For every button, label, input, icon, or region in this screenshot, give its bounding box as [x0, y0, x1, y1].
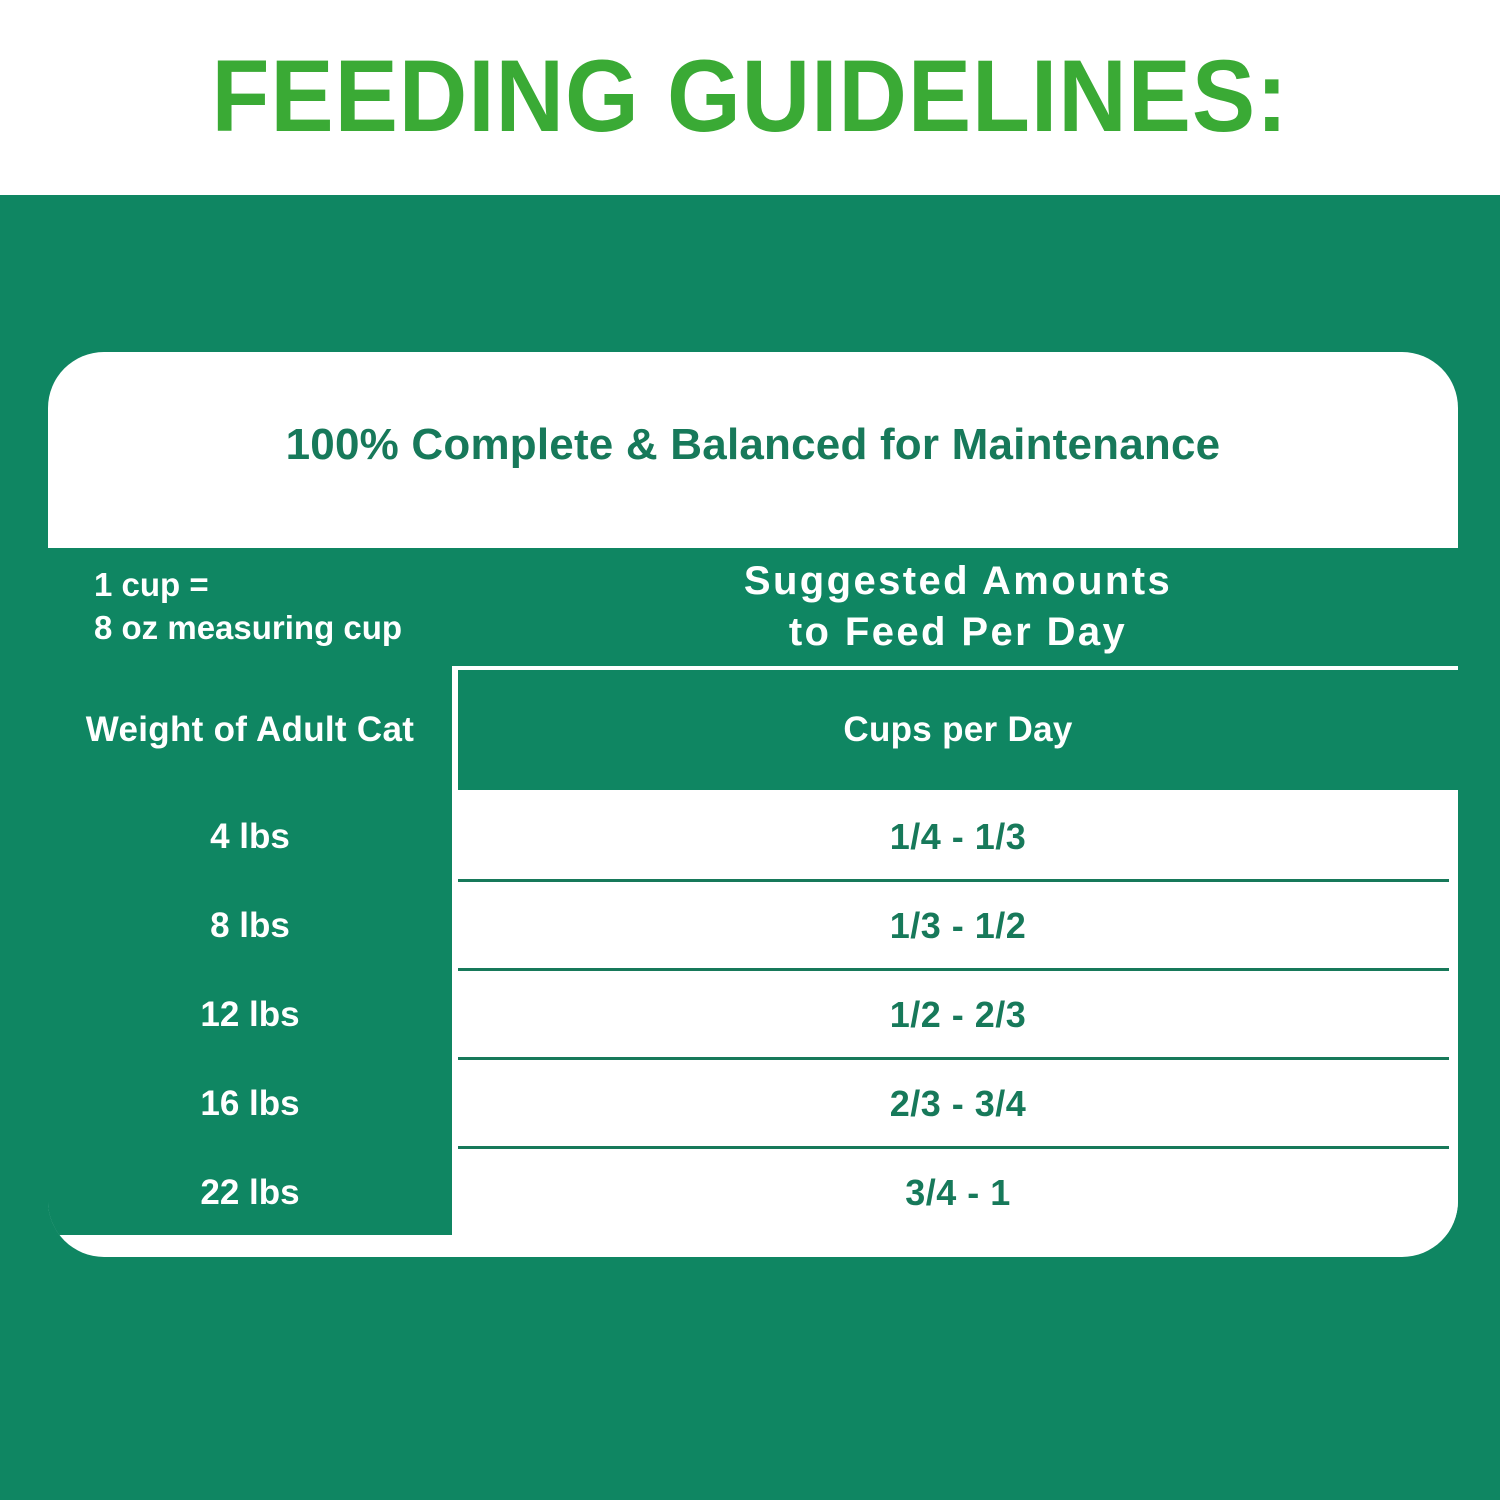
feeding-table: 1 cup = 8 oz measuring cup Suggested Amo…: [48, 548, 1458, 1235]
cups-value: 1/2 - 2/3: [890, 994, 1027, 1036]
table-row: 22 lbs 3/4 - 1: [48, 1150, 1458, 1235]
suggested-amounts-cell: Suggested Amounts to Feed Per Day: [458, 548, 1458, 666]
weight-cell: 16 lbs: [48, 1061, 452, 1146]
cups-value: 2/3 - 3/4: [890, 1083, 1027, 1125]
cup-conversion-cell: 1 cup = 8 oz measuring cup: [48, 548, 452, 666]
weight-value: 4 lbs: [210, 817, 290, 857]
table-header-row-1: 1 cup = 8 oz measuring cup Suggested Amo…: [48, 548, 1458, 666]
cups-value: 1/3 - 1/2: [890, 905, 1027, 947]
weight-value: 16 lbs: [200, 1084, 299, 1124]
cups-cell: 1/3 - 1/2: [458, 883, 1458, 968]
table-row: 4 lbs 1/4 - 1/3: [48, 794, 1458, 879]
weight-column-header-cell: Weight of Adult Cat: [48, 670, 452, 790]
table-header-row-2: Weight of Adult Cat Cups per Day: [48, 670, 1458, 790]
cups-cell: 3/4 - 1: [458, 1150, 1458, 1235]
cups-cell: 2/3 - 3/4: [458, 1061, 1458, 1146]
weight-cell: 8 lbs: [48, 883, 452, 968]
cups-cell: 1/2 - 2/3: [458, 972, 1458, 1057]
page-banner: FEEDING GUIDELINES:: [0, 0, 1500, 195]
weight-column-header: Weight of Adult Cat: [86, 710, 414, 750]
cups-value: 3/4 - 1: [905, 1172, 1011, 1214]
weight-cell: 12 lbs: [48, 972, 452, 1057]
suggested-amounts-heading: Suggested Amounts to Feed Per Day: [744, 556, 1172, 658]
weight-cell: 22 lbs: [48, 1150, 452, 1235]
row-divider: [458, 879, 1449, 882]
table-row: 12 lbs 1/2 - 2/3: [48, 972, 1458, 1057]
feeding-guidelines-panel: FEEDING GUIDELINES: 100% Complete & Bala…: [0, 0, 1500, 1500]
cups-cell: 1/4 - 1/3: [458, 794, 1458, 879]
guidelines-card: 100% Complete & Balanced for Maintenance…: [48, 352, 1458, 1257]
cup-conversion-text: 1 cup = 8 oz measuring cup: [94, 564, 402, 650]
row-divider: [458, 1146, 1449, 1149]
page-title: FEEDING GUIDELINES:: [211, 45, 1288, 147]
weight-value: 8 lbs: [210, 906, 290, 946]
table-row: 16 lbs 2/3 - 3/4: [48, 1061, 1458, 1146]
cups-column-header: Cups per Day: [843, 710, 1072, 750]
weight-cell: 4 lbs: [48, 794, 452, 879]
cups-value: 1/4 - 1/3: [890, 816, 1027, 858]
weight-value: 22 lbs: [200, 1173, 299, 1213]
row-divider: [458, 968, 1449, 971]
weight-value: 12 lbs: [200, 995, 299, 1035]
cups-column-header-cell: Cups per Day: [458, 670, 1458, 790]
row-divider: [458, 1057, 1449, 1060]
table-row: 8 lbs 1/3 - 1/2: [48, 883, 1458, 968]
card-heading: 100% Complete & Balanced for Maintenance: [48, 352, 1458, 470]
